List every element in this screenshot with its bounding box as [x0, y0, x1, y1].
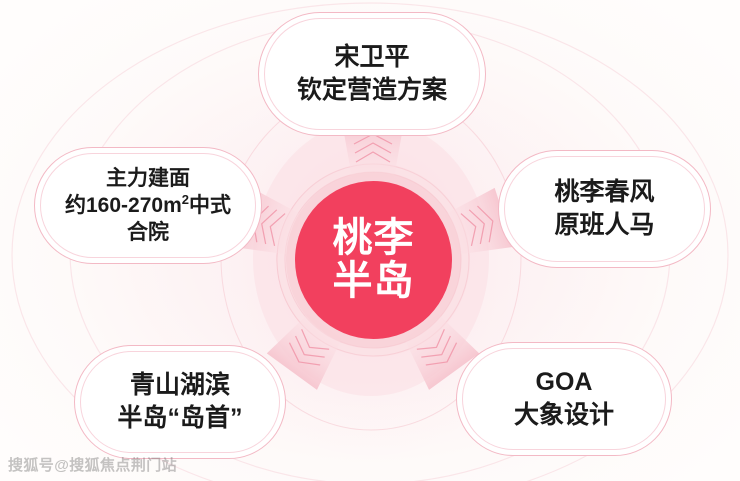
node-label-left: 主力建面 约160-270m2中式 合院 [55, 165, 241, 247]
center-hub-label: 桃李 半岛 [333, 217, 415, 303]
center-hub: 桃李 半岛 [295, 181, 452, 339]
node-bubble-bottom-right[interactable]: GOA 大象设计 [456, 342, 672, 456]
node-bubble-right[interactable]: 桃李春风 原班人马 [498, 150, 711, 268]
node-label-bottom-right: GOA 大象设计 [504, 366, 624, 433]
node-label-left-pre: 主力建面 约160-270m [65, 167, 190, 217]
node-bubble-top[interactable]: 宋卫平 钦定营造方案 [258, 12, 486, 136]
node-bubble-left[interactable]: 主力建面 约160-270m2中式 合院 [34, 147, 262, 264]
node-label-top: 宋卫平 钦定营造方案 [287, 41, 457, 108]
node-label-bottom-left: 青山湖滨 半岛“岛首” [107, 369, 252, 436]
node-label-left-superscript: 2 [182, 192, 189, 207]
node-label-right: 桃李春风 原班人马 [544, 176, 664, 243]
node-bubble-bottom-left[interactable]: 青山湖滨 半岛“岛首” [74, 345, 286, 459]
sohu-watermark: 搜狐号@搜狐焦点荆门站 [8, 454, 177, 475]
infographic-canvas: 桃李 半岛 宋卫平 钦定营造方案 主力建面 约160-270m2中式 合院 桃李… [0, 0, 740, 481]
